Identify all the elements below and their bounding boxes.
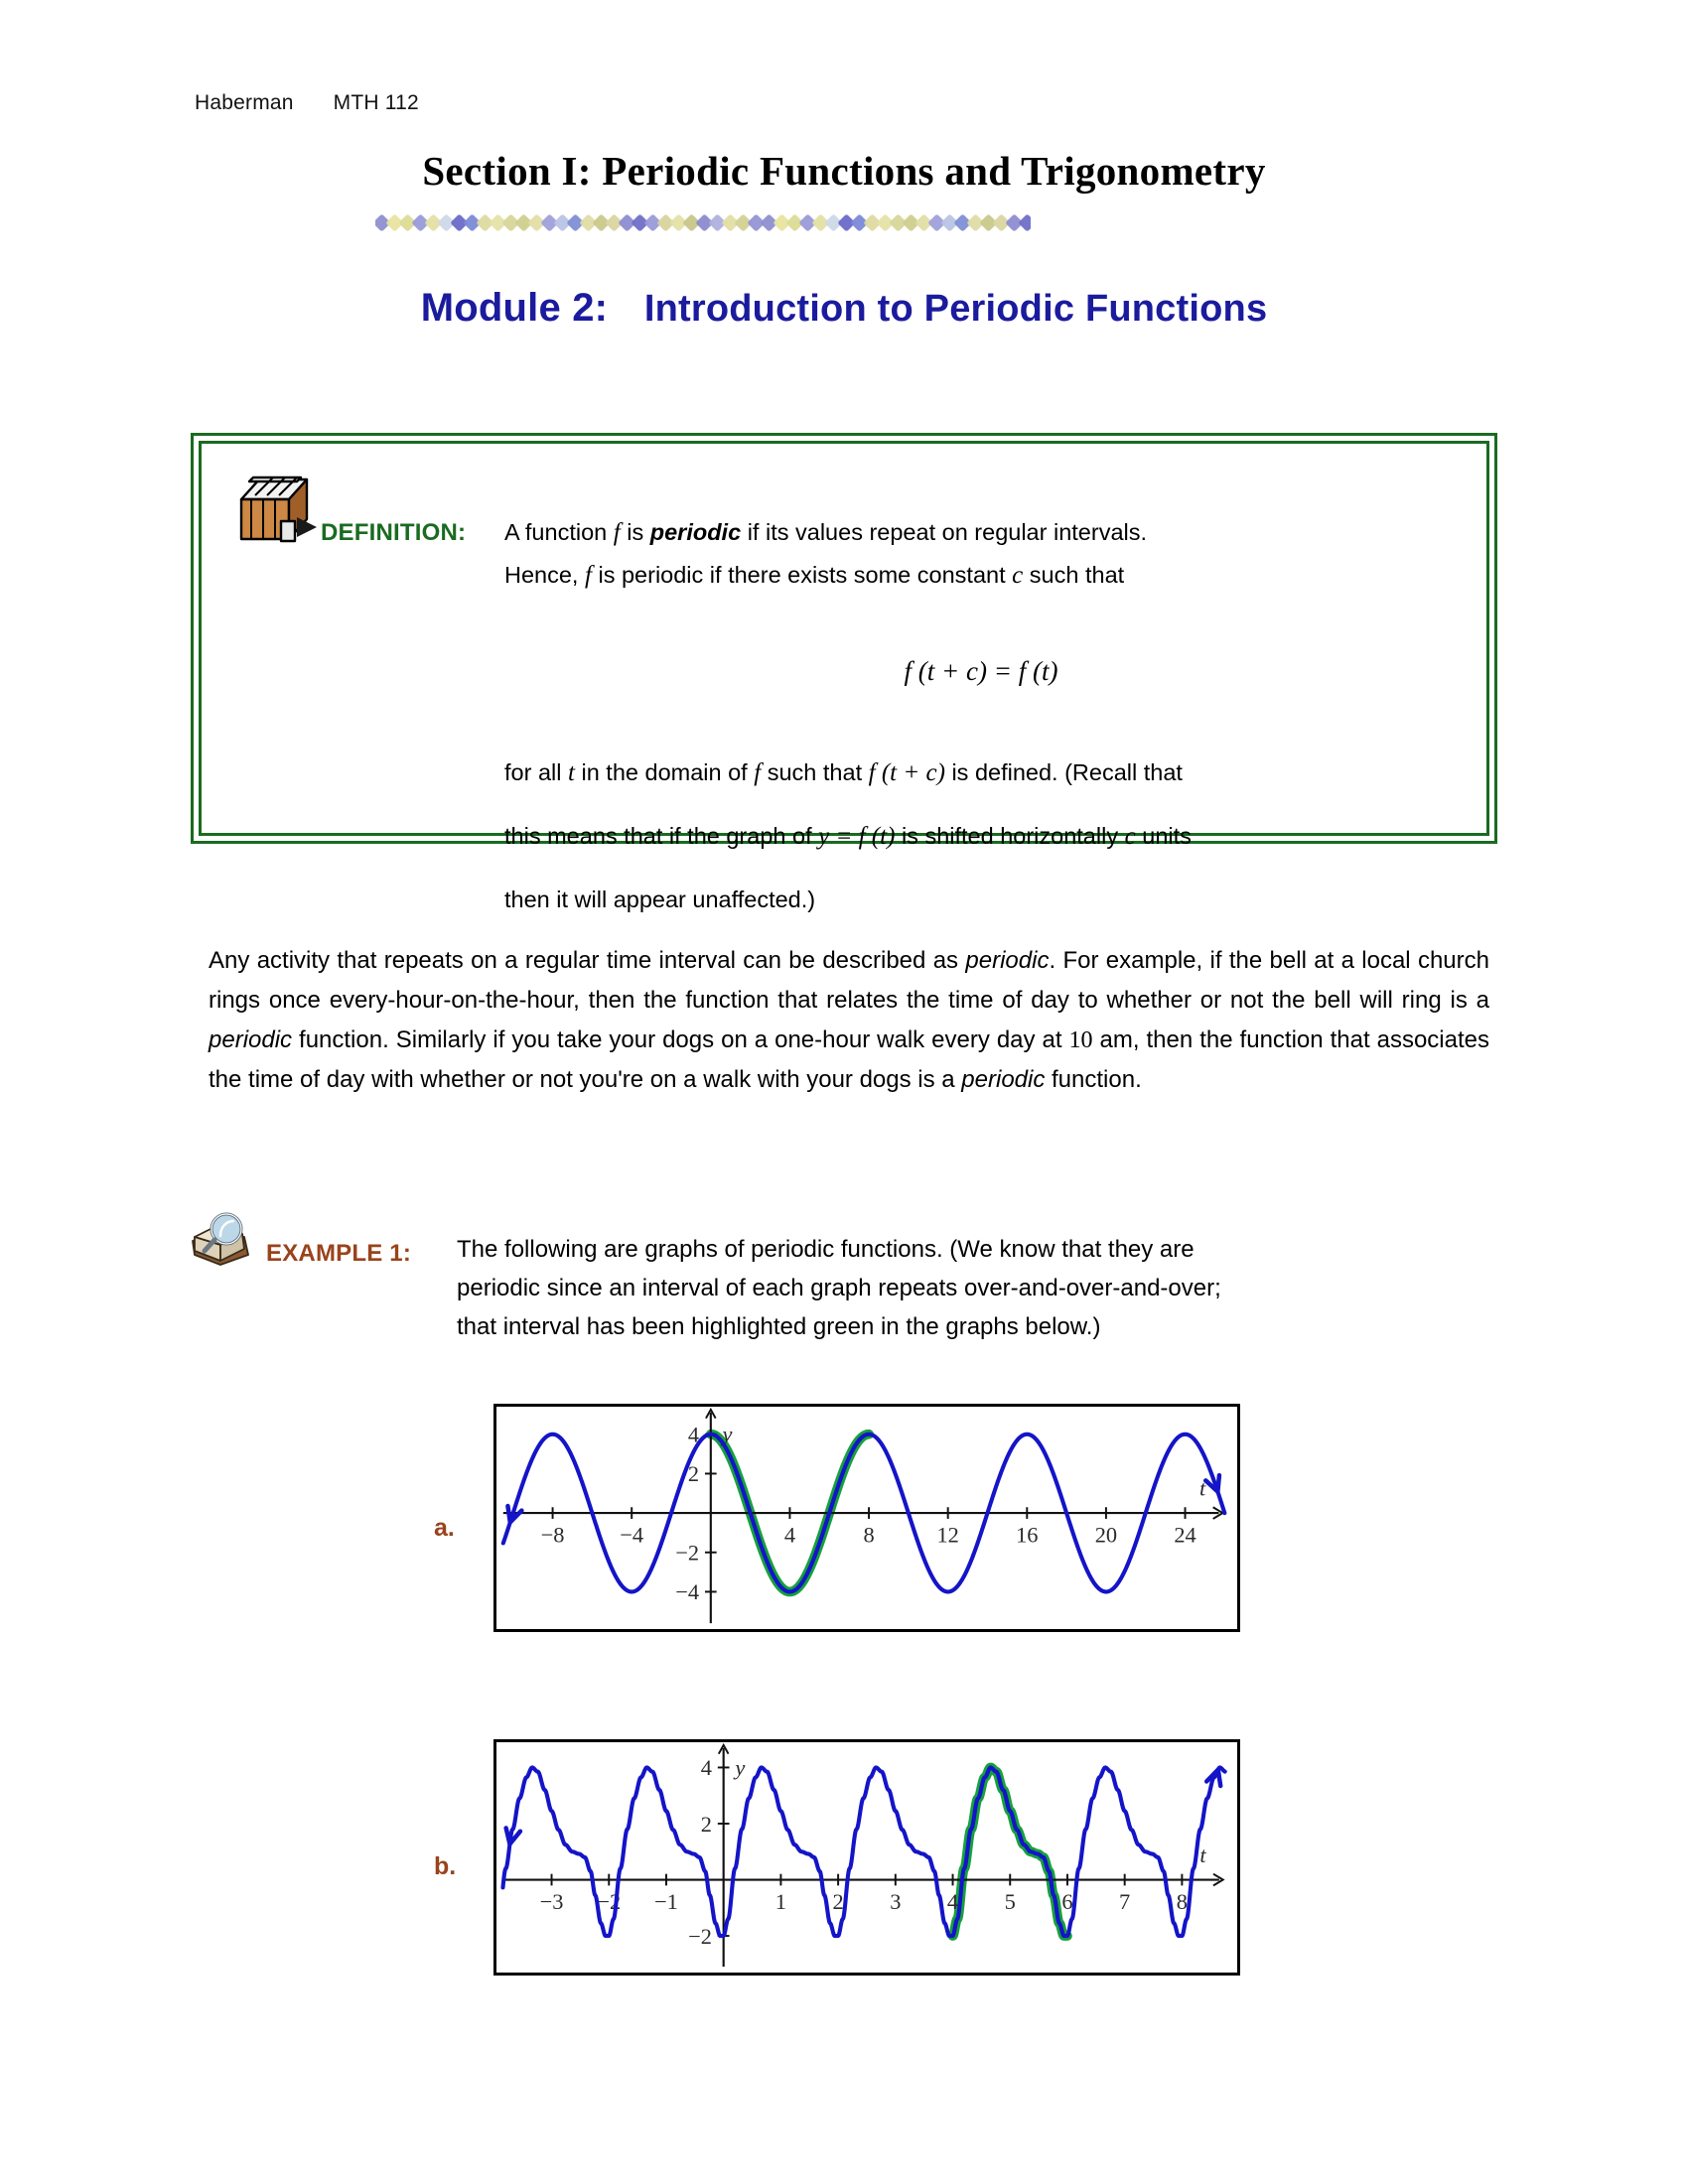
definition-text: A function f is periodic if its values r…: [504, 513, 1458, 596]
x-tick-label: 5: [1005, 1889, 1016, 1914]
x-tick-label: 8: [863, 1522, 874, 1547]
module-name: Introduction to Periodic Functions: [644, 288, 1267, 330]
def-t2-b: is shifted horizontally: [902, 823, 1118, 849]
y-tick-label: −4: [675, 1579, 699, 1604]
x-tick-label: −1: [654, 1889, 678, 1914]
def-l1-a: A function: [504, 519, 607, 545]
x-tick-label: 4: [947, 1889, 958, 1914]
x-tick-label: 3: [890, 1889, 901, 1914]
x-tick-label: 2: [833, 1889, 844, 1914]
definition-tail-line-1: for all t in the domain of f such that f…: [504, 753, 1463, 794]
example-text: The following are graphs of periodic fun…: [457, 1231, 1489, 1347]
definition-tail-line-3: then it will appear unaffected.): [504, 881, 1463, 918]
x-tick-label: 16: [1016, 1522, 1038, 1547]
x-tick-label: 6: [1061, 1889, 1072, 1914]
page-title: Module 2: Introduction to Periodic Funct…: [0, 286, 1688, 331]
graph-b: −3−2−112345678−224yt: [493, 1739, 1240, 1976]
body-paragraph: Any activity that repeats on a regular t…: [209, 941, 1489, 1100]
def-l1-c: if its values repeat on regular interval…: [748, 519, 1147, 545]
x-tick-label: 24: [1174, 1522, 1196, 1547]
def-l2-d: such that: [1030, 562, 1124, 588]
x-tick-label: −4: [620, 1522, 643, 1547]
figure-label-b: b.: [434, 1852, 456, 1881]
def-l2-b: is periodic if there exists some constan…: [598, 562, 1005, 588]
figure-label-a: a.: [434, 1514, 455, 1543]
x-tick-label: 7: [1119, 1889, 1130, 1914]
body-t5: function.: [1045, 1066, 1141, 1093]
y-axis-label: y: [733, 1755, 745, 1780]
definition-box-inner: DEFINITION: A function f is periodic if …: [199, 441, 1489, 836]
example-line-1: The following are graphs of periodic fun…: [457, 1231, 1489, 1270]
definition-line-1: A function f is periodic if its values r…: [504, 513, 1458, 554]
def-l1-f: f: [614, 519, 621, 546]
body-em2: periodic: [209, 1026, 292, 1053]
def-t1-f: f: [754, 759, 761, 786]
body-em3: periodic: [961, 1066, 1045, 1093]
def-t2-a: this means that if the graph of: [504, 823, 812, 849]
example-label: EXAMPLE 1:: [266, 1240, 411, 1268]
example-line-2: periodic since an interval of each graph…: [457, 1270, 1489, 1308]
x-tick-label: 1: [775, 1889, 786, 1914]
definition-tail-line-2: this means that if the graph of y = f (t…: [504, 817, 1463, 858]
header-author: Haberman: [195, 91, 294, 114]
definition-tail-text: for all t in the domain of f such that f…: [504, 730, 1463, 941]
definition-line-2: Hence, f is periodic if there exists som…: [504, 556, 1458, 597]
def-t2-eq: y = f (t): [818, 823, 895, 850]
books-icon: [229, 466, 321, 557]
y-tick-label: 4: [701, 1755, 712, 1780]
def-t1-a: for all: [504, 759, 561, 785]
y-tick-label: −2: [675, 1541, 699, 1566]
body-t1: Any activity that repeats on a regular t…: [209, 947, 965, 974]
def-t1-d: is defined. (Recall that: [951, 759, 1183, 785]
body-em1: periodic: [965, 947, 1049, 974]
def-l1-b: is: [627, 519, 643, 545]
def-t2-c: c: [1125, 823, 1136, 850]
body-t3: function. Similarly if you take your dog…: [292, 1026, 1068, 1053]
example-line-3: that interval has been highlighted green…: [457, 1308, 1489, 1347]
def-l2-a: Hence,: [504, 562, 578, 588]
x-tick-label: −3: [540, 1889, 564, 1914]
document-header: HabermanMTH 112: [195, 91, 419, 115]
diamond-icon: [1018, 213, 1031, 231]
def-t1-b: in the domain of: [581, 759, 747, 785]
diamond-divider: [375, 210, 1031, 234]
definition-equation-text: f (t + c) = f (t): [905, 656, 1058, 686]
magnifier-book-icon: [187, 1207, 258, 1269]
definition-box: DEFINITION: A function f is periodic if …: [191, 433, 1497, 844]
x-tick-label: 4: [784, 1522, 795, 1547]
x-tick-label: 20: [1095, 1522, 1117, 1547]
definition-equation: f (t + c) = f (t): [504, 656, 1458, 687]
body-num: 10: [1069, 1027, 1093, 1053]
module-label: Module 2:: [421, 286, 608, 330]
header-course: MTH 112: [334, 91, 419, 114]
def-t2-d: units: [1142, 823, 1192, 849]
def-l2-c: c: [1012, 562, 1023, 589]
x-tick-label: −8: [541, 1522, 565, 1547]
def-l1-em: periodic: [650, 519, 741, 545]
def-t1-eq: f (t + c): [869, 759, 945, 786]
x-tick-label: 12: [936, 1522, 958, 1547]
x-tick-label: 8: [1177, 1889, 1188, 1914]
def-t1-t: t: [568, 759, 575, 786]
y-tick-label: 2: [701, 1812, 712, 1837]
y-tick-label: −2: [688, 1924, 712, 1949]
def-t1-c: such that: [768, 759, 862, 785]
graph-a: −8−44812162024−4−224yt: [493, 1404, 1240, 1632]
section-title: Section I: Periodic Functions and Trigon…: [0, 147, 1688, 195]
document-page: HabermanMTH 112 Section I: Periodic Func…: [0, 0, 1688, 2184]
def-l2-f: f: [585, 562, 592, 589]
definition-label: DEFINITION:: [321, 519, 466, 547]
x-axis-label: t: [1199, 1843, 1206, 1867]
